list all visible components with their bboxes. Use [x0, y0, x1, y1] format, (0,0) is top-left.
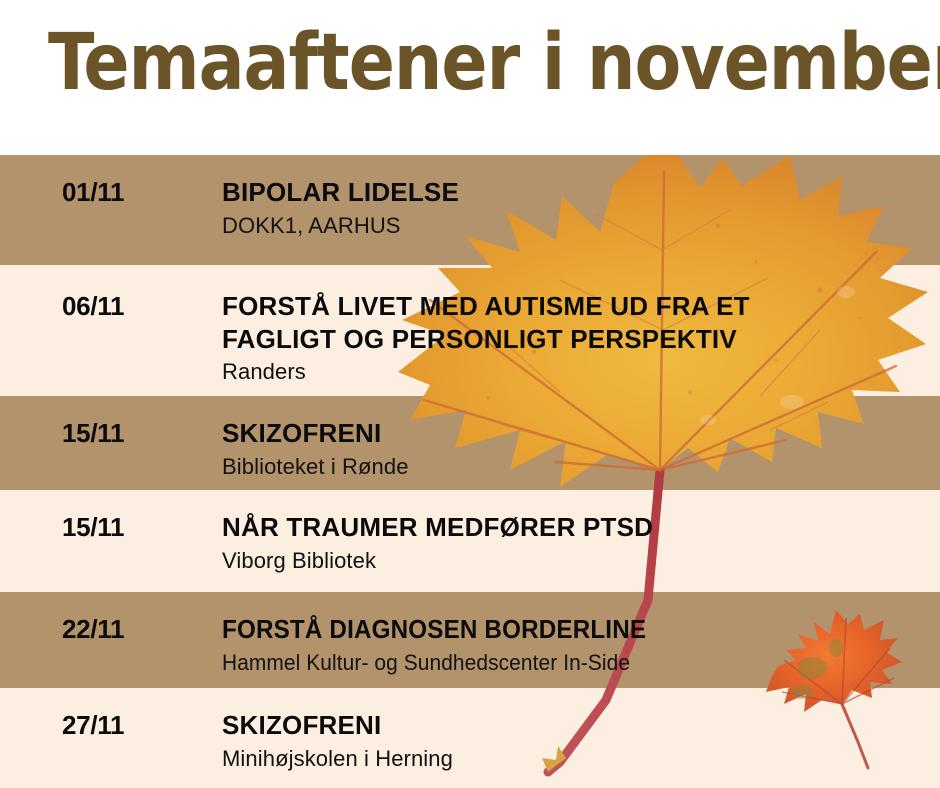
- event-venue: Hammel Kultur- og Sundhedscenter In-Side: [222, 650, 895, 676]
- event-venue: Biblioteket i Rønde: [222, 454, 930, 480]
- event-title: FORSTÅ LIVET MED AUTISME UD FRA ET: [222, 291, 930, 322]
- event-details: BIPOLAR LIDELSEDOKK1, AARHUS: [222, 177, 930, 239]
- event-date: 15/11: [62, 418, 124, 449]
- event-date: 27/11: [62, 710, 124, 741]
- event-title-line-2: FAGLIGT OG PERSONLIGT PERSPEKTIV: [222, 324, 930, 355]
- event-row: 15/11NÅR TRAUMER MEDFØRER PTSDViborg Bib…: [0, 490, 940, 592]
- event-row: 22/11FORSTÅ DIAGNOSEN BORDERLINEHammel K…: [0, 592, 940, 688]
- event-date: 06/11: [62, 291, 124, 322]
- event-row: 15/11SKIZOFRENIBiblioteket i Rønde: [0, 396, 940, 490]
- event-date: 15/11: [62, 512, 124, 543]
- event-details: SKIZOFRENIBiblioteket i Rønde: [222, 418, 930, 480]
- event-details: SKIZOFRENIMinihøjskolen i Herning: [222, 710, 930, 772]
- event-date: 22/11: [62, 614, 124, 645]
- event-row: 06/11FORSTÅ LIVET MED AUTISME UD FRA ETF…: [0, 265, 940, 396]
- poster-canvas: Temaaftener i november 01/11BIPOLAR LIDE…: [0, 0, 940, 788]
- event-venue: Minihøjskolen i Herning: [222, 746, 930, 772]
- event-title: SKIZOFRENI: [222, 418, 930, 449]
- event-title: BIPOLAR LIDELSE: [222, 177, 930, 208]
- event-row: 27/11SKIZOFRENIMinihøjskolen i Herning: [0, 688, 940, 788]
- event-title: NÅR TRAUMER MEDFØRER PTSD: [222, 512, 930, 543]
- event-venue: Viborg Bibliotek: [222, 548, 930, 574]
- event-row: 01/11BIPOLAR LIDELSEDOKK1, AARHUS: [0, 155, 940, 265]
- event-title: FORSTÅ DIAGNOSEN BORDERLINE: [222, 614, 880, 645]
- event-venue: Randers: [222, 359, 930, 385]
- event-title: SKIZOFRENI: [222, 710, 930, 741]
- poster-header: Temaaftener i november: [0, 0, 940, 155]
- page-title: Temaaftener i november: [48, 24, 940, 102]
- event-date: 01/11: [62, 177, 124, 208]
- event-details: FORSTÅ DIAGNOSEN BORDERLINEHammel Kultur…: [222, 614, 930, 676]
- event-venue: DOKK1, AARHUS: [222, 213, 930, 239]
- event-details: FORSTÅ LIVET MED AUTISME UD FRA ETFAGLIG…: [222, 291, 930, 386]
- event-details: NÅR TRAUMER MEDFØRER PTSDViborg Bibliote…: [222, 512, 930, 574]
